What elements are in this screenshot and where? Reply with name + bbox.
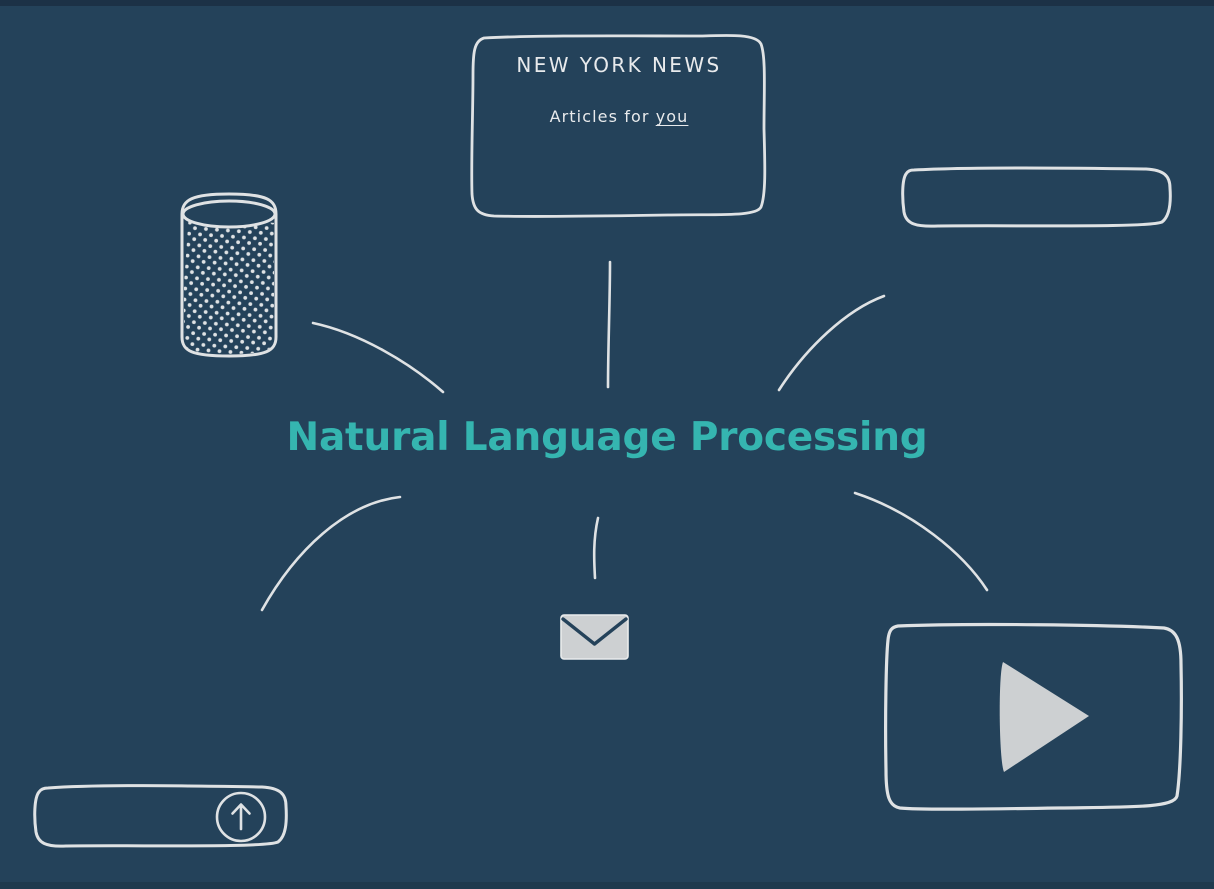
connector-searchbar-to-center xyxy=(779,296,884,390)
smart-speaker-icon xyxy=(172,190,288,360)
connector-center-to-video xyxy=(855,493,987,590)
connector-speaker-to-center xyxy=(313,323,443,392)
news-card-subline-link[interactable]: you xyxy=(656,107,689,126)
search-bar[interactable] xyxy=(898,162,1176,232)
page-title: Natural Language Processing xyxy=(0,415,1214,460)
video-player-frame xyxy=(880,620,1188,818)
concept-map-canvas: Natural Language Processing NEW YORK NEW… xyxy=(0,0,1214,889)
video-player[interactable] xyxy=(880,620,1188,818)
submit-arrow-icon xyxy=(233,805,250,830)
envelope-icon xyxy=(559,612,631,662)
speaker-top-rim xyxy=(183,201,275,227)
prompt-input[interactable] xyxy=(50,798,214,836)
news-article-card[interactable]: NEW YORK NEWS Articles for you xyxy=(468,31,770,221)
search-input[interactable] xyxy=(916,178,1158,218)
play-icon xyxy=(1000,662,1089,772)
prompt-input-bar[interactable] xyxy=(30,780,292,852)
email-envelope[interactable] xyxy=(559,612,631,662)
news-card-subline: Articles for you xyxy=(468,107,770,126)
news-card-headline: NEW YORK NEWS xyxy=(468,53,770,77)
connector-center-to-mail xyxy=(594,518,598,578)
speaker-mesh xyxy=(179,217,280,357)
news-card-subline-prefix: Articles for xyxy=(550,107,656,126)
connector-center-to-prompt xyxy=(262,497,400,610)
connector-news-to-center xyxy=(608,262,610,387)
smart-speaker[interactable] xyxy=(172,190,288,360)
